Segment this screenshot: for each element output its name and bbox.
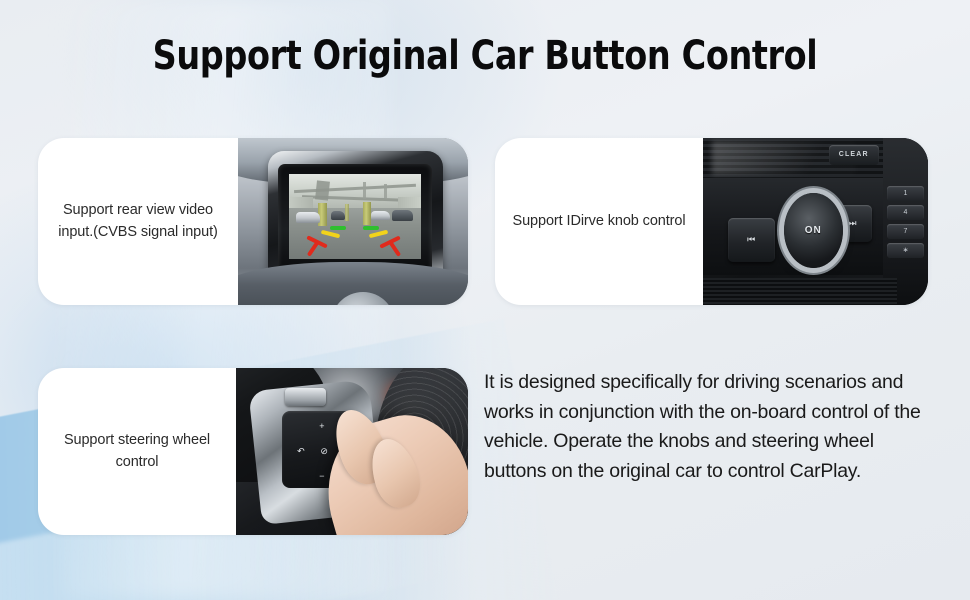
keypad-key: 4 <box>887 205 924 220</box>
page-title: Support Original Car Button Control <box>34 33 936 79</box>
console-on-knob-label: ON <box>805 225 822 236</box>
steering-wheel-controls-photo: + − ↶ ⊘ ✆ <box>236 368 468 535</box>
console-clear-button-label: CLEAR <box>829 145 879 165</box>
keypad-key: ∗ <box>887 243 924 258</box>
keypad-key: 1 <box>887 186 924 201</box>
mute-icon: ⊘ <box>310 443 338 460</box>
idrive-knob-console-photo: CLEAR ⏮ ⏭ ON 1 4 7 ∗ <box>703 138 928 305</box>
feature-card-steering-wheel: Support steering wheel control + − ↶ ⊘ ✆ <box>38 368 468 535</box>
console-prev-track-icon: ⏮ <box>728 218 775 261</box>
steering-wheel-top-button <box>285 388 327 406</box>
promo-page: Support Original Car Button Control Supp… <box>0 0 970 600</box>
console-on-knob: ON <box>784 193 843 268</box>
feature-card-label-steering-wheel: Support steering wheel control <box>38 368 236 535</box>
feature-card-label-rear-view-input: Support rear view video input.(CVBS sign… <box>38 138 238 305</box>
feature-description: It is designed specifically for driving … <box>484 368 924 487</box>
feature-card-label-idrive-knob: Support IDirve knob control <box>495 138 703 305</box>
feature-card-rear-view-input: Support rear view video input.(CVBS sign… <box>38 138 468 305</box>
feature-card-idrive-knob: Support IDirve knob control CLEAR ⏮ ⏭ ON… <box>495 138 928 305</box>
volume-up-icon: + <box>308 418 336 435</box>
rear-view-camera-display-photo <box>238 138 468 305</box>
keypad-key: 7 <box>887 224 924 239</box>
